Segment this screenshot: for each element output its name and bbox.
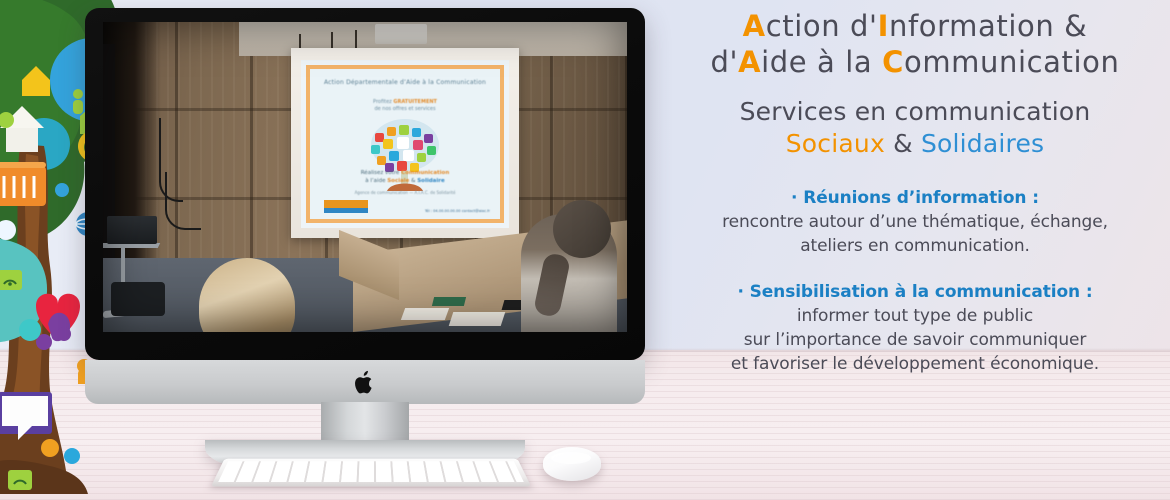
- section-line: et favoriser le développement économique…: [660, 352, 1170, 376]
- subtitle-line1: Services en communication: [740, 97, 1091, 126]
- section-reunions: · Réunions d’information : rencontre aut…: [660, 186, 1170, 258]
- section-lead: · Sensibilisation à la communication :: [660, 280, 1170, 304]
- promotional-banner: Action Départementale d’Aide à la Commun…: [0, 0, 1170, 500]
- apple-logo-icon: [354, 370, 376, 395]
- apple-magic-keyboard[interactable]: [211, 459, 531, 487]
- conference-photo: Action Départementale d’Aide à la Commun…: [103, 22, 627, 332]
- section-lead: · Réunions d’information :: [660, 186, 1170, 210]
- text-panel: Action d'Information & d'Aide à la Commu…: [660, 0, 1170, 500]
- headline: Action d'Information & d'Aide à la Commu…: [660, 8, 1170, 80]
- apple-magic-mouse[interactable]: [543, 447, 601, 481]
- subtitle-solidaires: Solidaires: [921, 129, 1044, 158]
- headline-line2-mid: ide à la: [761, 45, 882, 79]
- headline-line1-rest2: nformation &: [889, 9, 1087, 43]
- subtitle-amp: &: [893, 129, 913, 158]
- headline-hl-a: A: [743, 9, 766, 43]
- headline-line1-rest: ction d': [766, 9, 878, 43]
- subtitle-sociaux: Sociaux: [786, 129, 885, 158]
- imac-chin: [85, 360, 645, 404]
- headline-line2-end: ommunication: [904, 45, 1120, 79]
- section-line: sur l’importance de savoir communiquer: [660, 328, 1170, 352]
- subtitle: Services en communication Sociaux & Soli…: [660, 96, 1170, 160]
- keyboard-keys[interactable]: [218, 461, 524, 482]
- section-line: rencontre autour d’une thématique, échan…: [660, 210, 1170, 234]
- headline-line2-pre: d': [710, 45, 738, 79]
- section-line: informer tout type de public: [660, 304, 1170, 328]
- headline-hl-a2: A: [738, 45, 761, 79]
- headline-hl-c: C: [882, 45, 904, 79]
- section-line: ateliers en communication.: [660, 234, 1170, 258]
- photo-vignette: [103, 22, 627, 332]
- imac-computer: Action Départementale d’Aide à la Commun…: [85, 8, 645, 360]
- imac-bezel: Action Départementale d’Aide à la Commun…: [85, 8, 645, 360]
- headline-hl-i: I: [878, 9, 889, 43]
- imac-screen: Action Départementale d’Aide à la Commun…: [103, 22, 627, 332]
- section-sensibilisation: · Sensibilisation à la communication : i…: [660, 280, 1170, 376]
